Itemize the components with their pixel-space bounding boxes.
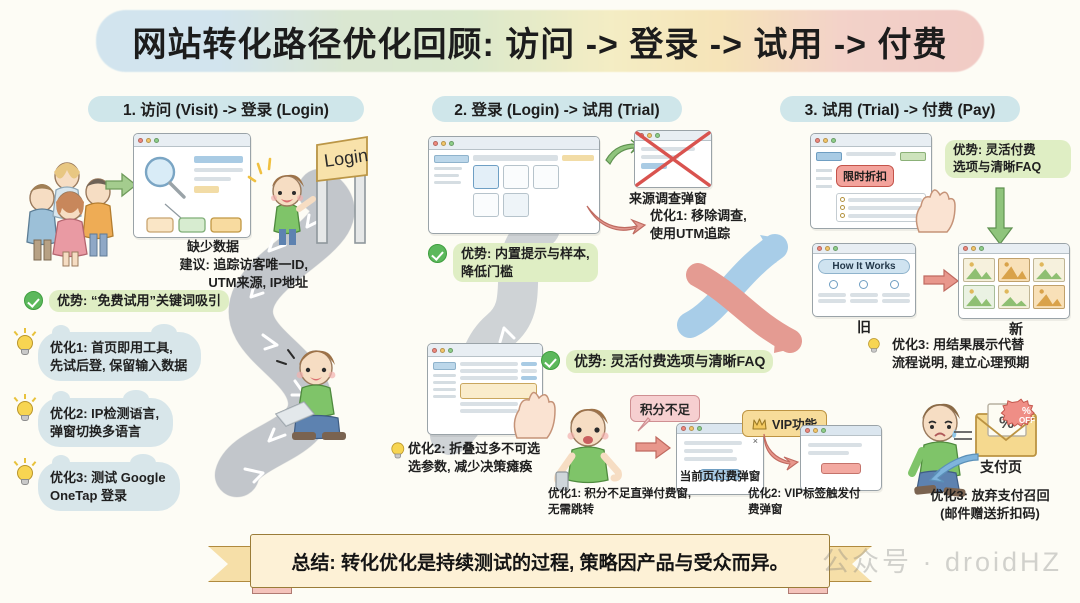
gallery-thumb[interactable] (963, 258, 995, 282)
red-arrow-icon-1 (585, 200, 647, 236)
label-old: 旧 (834, 318, 894, 337)
section3-optimization-3-bottom: 优化3: 放弃支付召回 (邮件赠送折扣码) (900, 487, 1080, 522)
login-gate-illustration: Login (255, 125, 370, 245)
gallery-thumb[interactable] (963, 285, 995, 309)
section-header-3: 3. 试用 (Trial) -> 付费 (Pay) (780, 96, 1020, 122)
pointing-hand-icon-2 (908, 178, 958, 236)
summary-ribbon: 总结: 转化优化是持续测试的过程, 策略因产品与受众而异。 (208, 534, 872, 594)
check-circle-icon (24, 291, 43, 310)
gallery-thumb[interactable] (998, 258, 1030, 282)
section-header-1: 1. 访问 (Visit) -> 登录 (Login) (88, 96, 364, 122)
missing-data-label: 缺少数据 (128, 238, 298, 256)
ribbon-body: 总结: 转化优化是持续测试的过程, 策略因产品与受众而异。 (250, 534, 830, 588)
window-close-dot[interactable] (432, 348, 437, 353)
lightbulb-icon (14, 332, 36, 358)
lightbulb-icon (866, 336, 882, 355)
pay-advantage-text: 优势: 灵活付费选项与清晰FAQ (566, 350, 773, 373)
window-maximize-dot[interactable] (448, 348, 453, 353)
limited-discount-badge[interactable]: 限时折扣 (836, 165, 894, 187)
window-maximize-dot[interactable] (449, 141, 454, 146)
tracking-suggestion-label: 建议: 追踪访客唯一ID, UTM来源, IP地址 (108, 256, 308, 291)
visit-browser-window (133, 133, 251, 238)
window-titlebar (811, 134, 931, 147)
gallery-thumb[interactable] (1033, 285, 1065, 309)
envelope-icon: % % OFF (970, 398, 1054, 464)
template-card[interactable] (503, 193, 529, 217)
window-close-dot[interactable] (815, 138, 820, 143)
dashboard-sidebar[interactable] (434, 155, 469, 228)
section2-optimization-1: 优化1: 移除调查, 使用UTM追踪 (650, 207, 810, 242)
watermark: 公众号 · droidHZ (822, 540, 1062, 579)
window-titlebar (134, 134, 250, 147)
pay-page-label: 支付页 (980, 458, 1022, 477)
red-cross-out-icon (634, 130, 712, 188)
lightbulb-icon (14, 398, 36, 424)
person-with-laptop-illustration (270, 340, 380, 450)
optimization-2-text: 优化2: IP检测语言, 弹窗切换多语言 (50, 405, 159, 440)
window-minimize-dot[interactable] (441, 141, 446, 146)
optimization-bubble-3: 优化3: 测试 Google OneTap 登录 (14, 462, 180, 511)
window-minimize-dot[interactable] (146, 138, 151, 143)
survey-popup-crossed-out (634, 130, 712, 188)
section2-advantage-text: 优势: 内置提示与样本, 降低门槛 (453, 243, 598, 282)
window-titlebar (429, 137, 599, 150)
how-it-works-window-old: How It Works (812, 243, 916, 317)
infographic-canvas: 网站转化路径优化回顾: 访问 -> 登录 -> 试用 -> 付费 1. 访问 (… (0, 0, 1080, 603)
gallery-thumb[interactable] (998, 285, 1030, 309)
template-card[interactable] (503, 165, 529, 189)
section2-advantage: 优势: 内置提示与样本, 降低门槛 (428, 243, 658, 282)
gallery-thumb[interactable] (1033, 258, 1065, 282)
section3-optimization-3-top-group: 优化3: 用结果展示代替 流程说明, 建立心理预期 (866, 336, 1080, 371)
optimization-bubble-1: 优化1: 首页即用工具, 先试后登, 保留输入数据 (14, 332, 201, 381)
template-card[interactable] (473, 193, 499, 217)
window-close-dot[interactable] (433, 141, 438, 146)
green-down-arrow-icon (985, 186, 1015, 248)
pay-optimization-1: 优化1: 积分不足直弹付费窗, 无需跳转 (548, 487, 738, 518)
blue-arrow-icon (928, 450, 980, 484)
window-maximize-dot[interactable] (831, 138, 836, 143)
optimization-1-text: 优化1: 首页即用工具, 先试后登, 保留输入数据 (50, 339, 187, 374)
window-titlebar (428, 344, 542, 357)
template-card[interactable] (473, 165, 499, 189)
red-arrow-icon-2 (634, 435, 672, 461)
survey-popup-label: 来源调查弹窗 (629, 190, 769, 208)
how-it-works-title: How It Works (818, 259, 910, 274)
lightbulb-icon (389, 440, 402, 454)
svg-text:OFF: OFF (1019, 416, 1035, 425)
check-circle-icon (428, 244, 447, 263)
connector-dashes (952, 428, 976, 444)
results-gallery-window-new (958, 243, 1070, 319)
params-sidebar[interactable] (433, 362, 456, 429)
optimization-3-text: 优化3: 测试 Google OneTap 登录 (50, 469, 166, 504)
window-minimize-dot[interactable] (823, 138, 828, 143)
summary-text: 总结: 转化优化是持续测试的过程, 策略因产品与受众而异。 (291, 548, 788, 575)
section3-advantage-top: 优势: 灵活付费 选项与清晰FAQ (945, 140, 1071, 178)
template-card[interactable] (533, 165, 559, 189)
red-arrow-icon-3 (760, 432, 800, 468)
section1-advantage: 优势: “免费试用”关键词吸引 (24, 290, 284, 312)
optimization-bubble-2: 优化2: IP检测语言, 弹窗切换多语言 (14, 398, 173, 447)
pay-advantage-row: 优势: 灵活付费选项与清晰FAQ (541, 350, 841, 373)
section3-optimization-3-top: 优化3: 用结果展示代替 流程说明, 建立心理预期 (892, 336, 1080, 371)
speech-tail-icon (634, 418, 656, 432)
magnifier-icon (141, 154, 187, 200)
close-icon[interactable]: × (753, 436, 758, 446)
window-minimize-dot[interactable] (440, 348, 445, 353)
section1-advantage-text: 优势: “免费试用”关键词吸引 (49, 290, 229, 312)
current-page-popup-label: 当前页付费弹窗 (660, 470, 780, 486)
road-red-arrow (690, 265, 810, 355)
vip-payment-popup (800, 425, 882, 491)
window-close-dot[interactable] (138, 138, 143, 143)
vip-popup-cta-button[interactable] (821, 463, 861, 474)
check-circle-icon (541, 351, 560, 370)
window-maximize-dot[interactable] (154, 138, 159, 143)
section-header-2: 2. 登录 (Login) -> 试用 (Trial) (432, 96, 682, 122)
trial-dashboard-window (428, 136, 600, 234)
red-arrow-icon-4 (922, 268, 960, 294)
pay-optimization-2: 优化2: VIP标签触发付 费弹窗 (748, 487, 888, 518)
lightbulb-icon (14, 462, 36, 488)
page-title: 网站转化路径优化回顾: 访问 -> 登录 -> 试用 -> 付费 (96, 12, 984, 70)
crown-icon (752, 418, 767, 430)
